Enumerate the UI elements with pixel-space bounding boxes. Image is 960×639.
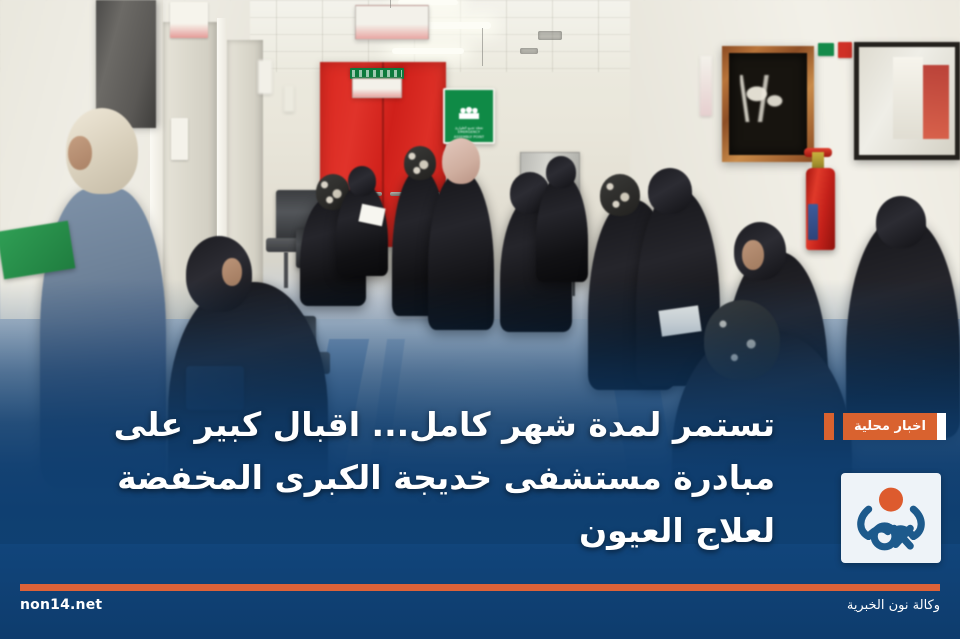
face [68,136,92,170]
site-url[interactable]: non14.net [20,597,102,613]
news-card: نقطة تجمع الطوارئ EMERGENCY ASSEMBLY POI… [0,0,960,639]
door-banner [352,78,402,98]
headline-line-1: تستمر لمدة شهر كامل... اقبال كبير على [40,398,775,451]
patterned-hijab [600,174,640,216]
wall-notice [700,56,712,116]
hijab [648,168,692,214]
wall-notice [838,42,852,58]
ceiling-vent [538,31,562,40]
patterned-hijab [404,146,436,180]
sign-hanger [390,0,391,8]
site-logo[interactable] [841,473,941,563]
footer-band [0,544,960,639]
rose-headscarf [442,138,480,184]
badge-white-bar [937,413,946,440]
hijab [348,166,376,196]
category-badge[interactable]: اخبار محلية [824,413,946,440]
ceiling-light [392,48,464,54]
agency-name: وكالة نون الخبرية [847,598,940,613]
orange-divider [20,584,940,591]
wall-notice [284,86,294,112]
emergency-assembly-sign: نقطة تجمع الطوارئ EMERGENCY ASSEMBLY POI… [443,88,495,144]
fire-extinguisher [806,168,835,250]
calligraphy-art [729,53,807,155]
hanging-sign [355,5,429,40]
light-cord [482,28,483,66]
face [742,240,764,270]
headline-line-3: لعلاج العيون [40,504,775,557]
exit-sign [818,43,834,56]
assembly-pictogram [459,106,479,119]
hijab [546,156,576,188]
calligraphy-frame [722,46,814,162]
wall-notice [258,60,272,94]
badge-gap [834,413,843,440]
assembly-sign-text: نقطة تجمع الطوارئ EMERGENCY ASSEMBLY POI… [445,126,493,139]
hijab [876,196,926,248]
badge-left-tick [824,413,834,440]
ceiling-vent [520,48,538,54]
headline: تستمر لمدة شهر كامل... اقبال كبير على مب… [40,398,775,557]
headline-line-2: مبادرة مستشفى خديجة الكبرى المخفضة [40,451,775,504]
non14-logo-mark [851,482,931,554]
wall-notice [171,118,188,160]
wall-notice [170,2,208,38]
logo-head-circle [879,488,903,512]
corridor-window [854,42,960,160]
badge-label: اخبار محلية [843,413,937,440]
